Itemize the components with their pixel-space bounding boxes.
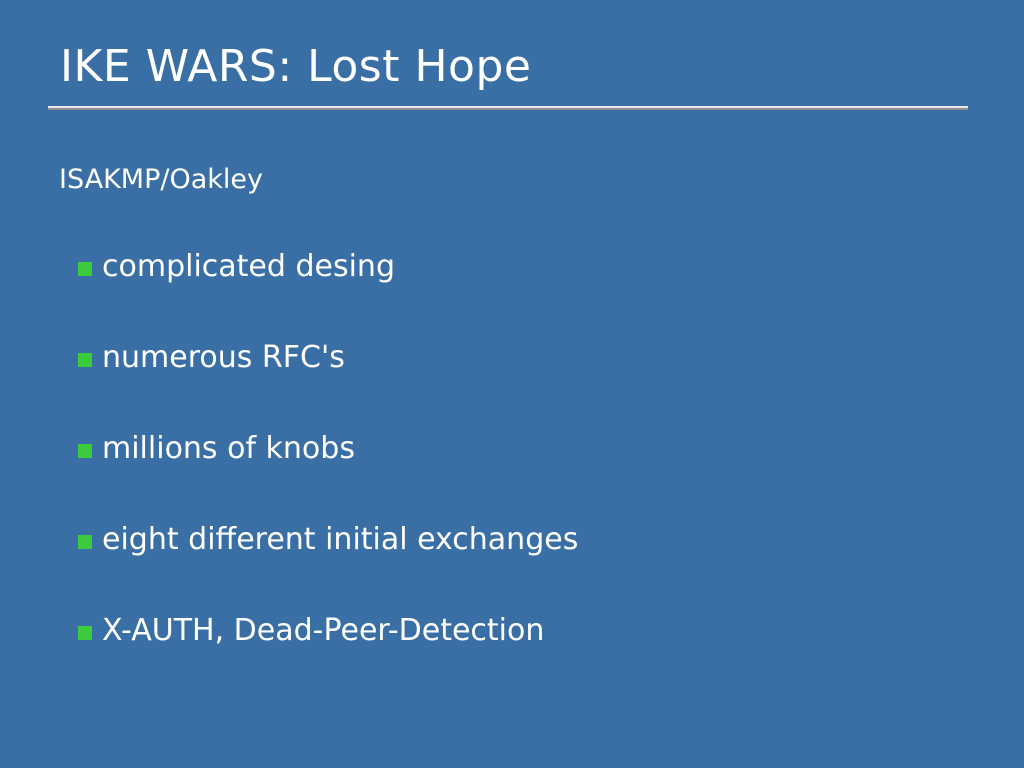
list-item: eight different initial exchanges	[0, 521, 1024, 612]
square-bullet-icon	[78, 353, 92, 367]
list-item-label: X-AUTH, Dead-Peer-Detection	[102, 612, 544, 650]
bullet-list: complicated desing numerous RFC's millio…	[0, 248, 1024, 703]
list-item: millions of knobs	[0, 430, 1024, 521]
list-item: numerous RFC's	[0, 339, 1024, 430]
square-bullet-icon	[78, 535, 92, 549]
list-item-label: millions of knobs	[102, 430, 355, 468]
list-item-label: complicated desing	[102, 248, 395, 286]
square-bullet-icon	[78, 262, 92, 276]
square-bullet-icon	[78, 626, 92, 640]
list-item-label: eight different initial exchanges	[102, 521, 578, 559]
section-subheading: ISAKMP/Oakley	[59, 163, 263, 197]
list-item: X-AUTH, Dead-Peer-Detection	[0, 612, 1024, 703]
square-bullet-icon	[78, 444, 92, 458]
list-item-label: numerous RFC's	[102, 339, 345, 377]
presentation-slide: IKE WARS: Lost Hope ISAKMP/Oakley compli…	[0, 0, 1024, 768]
slide-body: ISAKMP/Oakley complicated desing numerou…	[0, 0, 1024, 768]
list-item: complicated desing	[0, 248, 1024, 339]
